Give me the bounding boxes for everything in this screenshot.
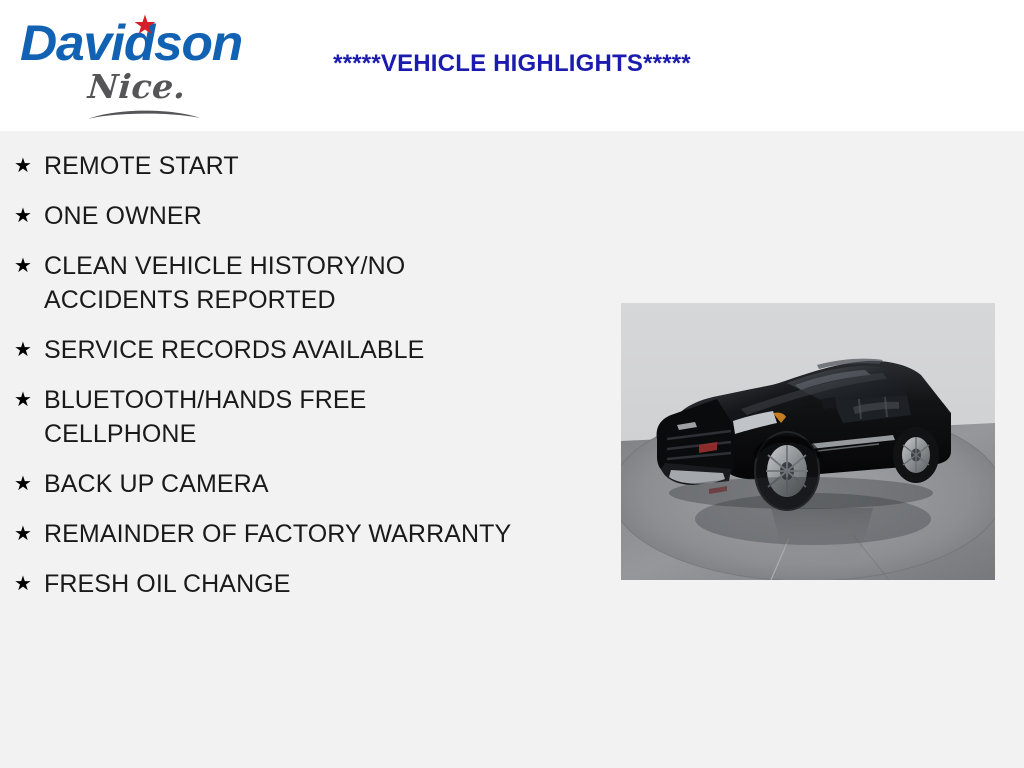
list-item: ★ FRESH OIL CHANGE: [0, 567, 600, 601]
highlight-label: ONE OWNER: [44, 199, 514, 233]
star-bullet-icon: ★: [14, 199, 44, 233]
list-item: ★ REMOTE START: [0, 149, 600, 183]
highlight-label: REMOTE START: [44, 149, 514, 183]
page-content: ★ REMOTE START ★ ONE OWNER ★ CLEAN VEHIC…: [0, 131, 1024, 768]
star-bullet-icon: ★: [14, 149, 44, 183]
vehicle-highlights-list: ★ REMOTE START ★ ONE OWNER ★ CLEAN VEHIC…: [0, 131, 600, 617]
highlight-label: FRESH OIL CHANGE: [44, 567, 514, 601]
logo-red-star-icon: ★: [132, 12, 158, 38]
vehicle-photo-frame: [621, 303, 995, 580]
highlight-label: SERVICE RECORDS AVAILABLE: [44, 333, 514, 367]
highlight-label: REMAINDER OF FACTORY WARRANTY: [44, 517, 514, 551]
list-item: ★ REMAINDER OF FACTORY WARRANTY: [0, 517, 600, 551]
list-item: ★ BLUETOOTH/HANDS FREE CELLPHONE: [0, 383, 600, 451]
highlight-label: BACK UP CAMERA: [44, 467, 514, 501]
star-bullet-icon: ★: [14, 333, 44, 367]
vehicle-photo: [621, 303, 995, 580]
highlight-label: CLEAN VEHICLE HISTORY/NO ACCIDENTS REPOR…: [44, 249, 514, 317]
list-item: ★ BACK UP CAMERA: [0, 467, 600, 501]
page-title: *****VEHICLE HIGHLIGHTS*****: [0, 50, 1024, 78]
star-bullet-icon: ★: [14, 249, 44, 283]
star-bullet-icon: ★: [14, 383, 44, 417]
list-item: ★ ONE OWNER: [0, 199, 600, 233]
highlight-label: BLUETOOTH/HANDS FREE CELLPHONE: [44, 383, 514, 451]
star-bullet-icon: ★: [14, 467, 44, 501]
page-header: Davidson ★ Nice. *****VEHICLE HIGHLIGHTS…: [0, 0, 1024, 131]
list-item: ★ SERVICE RECORDS AVAILABLE: [0, 333, 600, 367]
logo-swoosh-icon: [86, 107, 202, 121]
star-bullet-icon: ★: [14, 517, 44, 551]
list-item: ★ CLEAN VEHICLE HISTORY/NO ACCIDENTS REP…: [0, 249, 600, 317]
star-bullet-icon: ★: [14, 567, 44, 601]
